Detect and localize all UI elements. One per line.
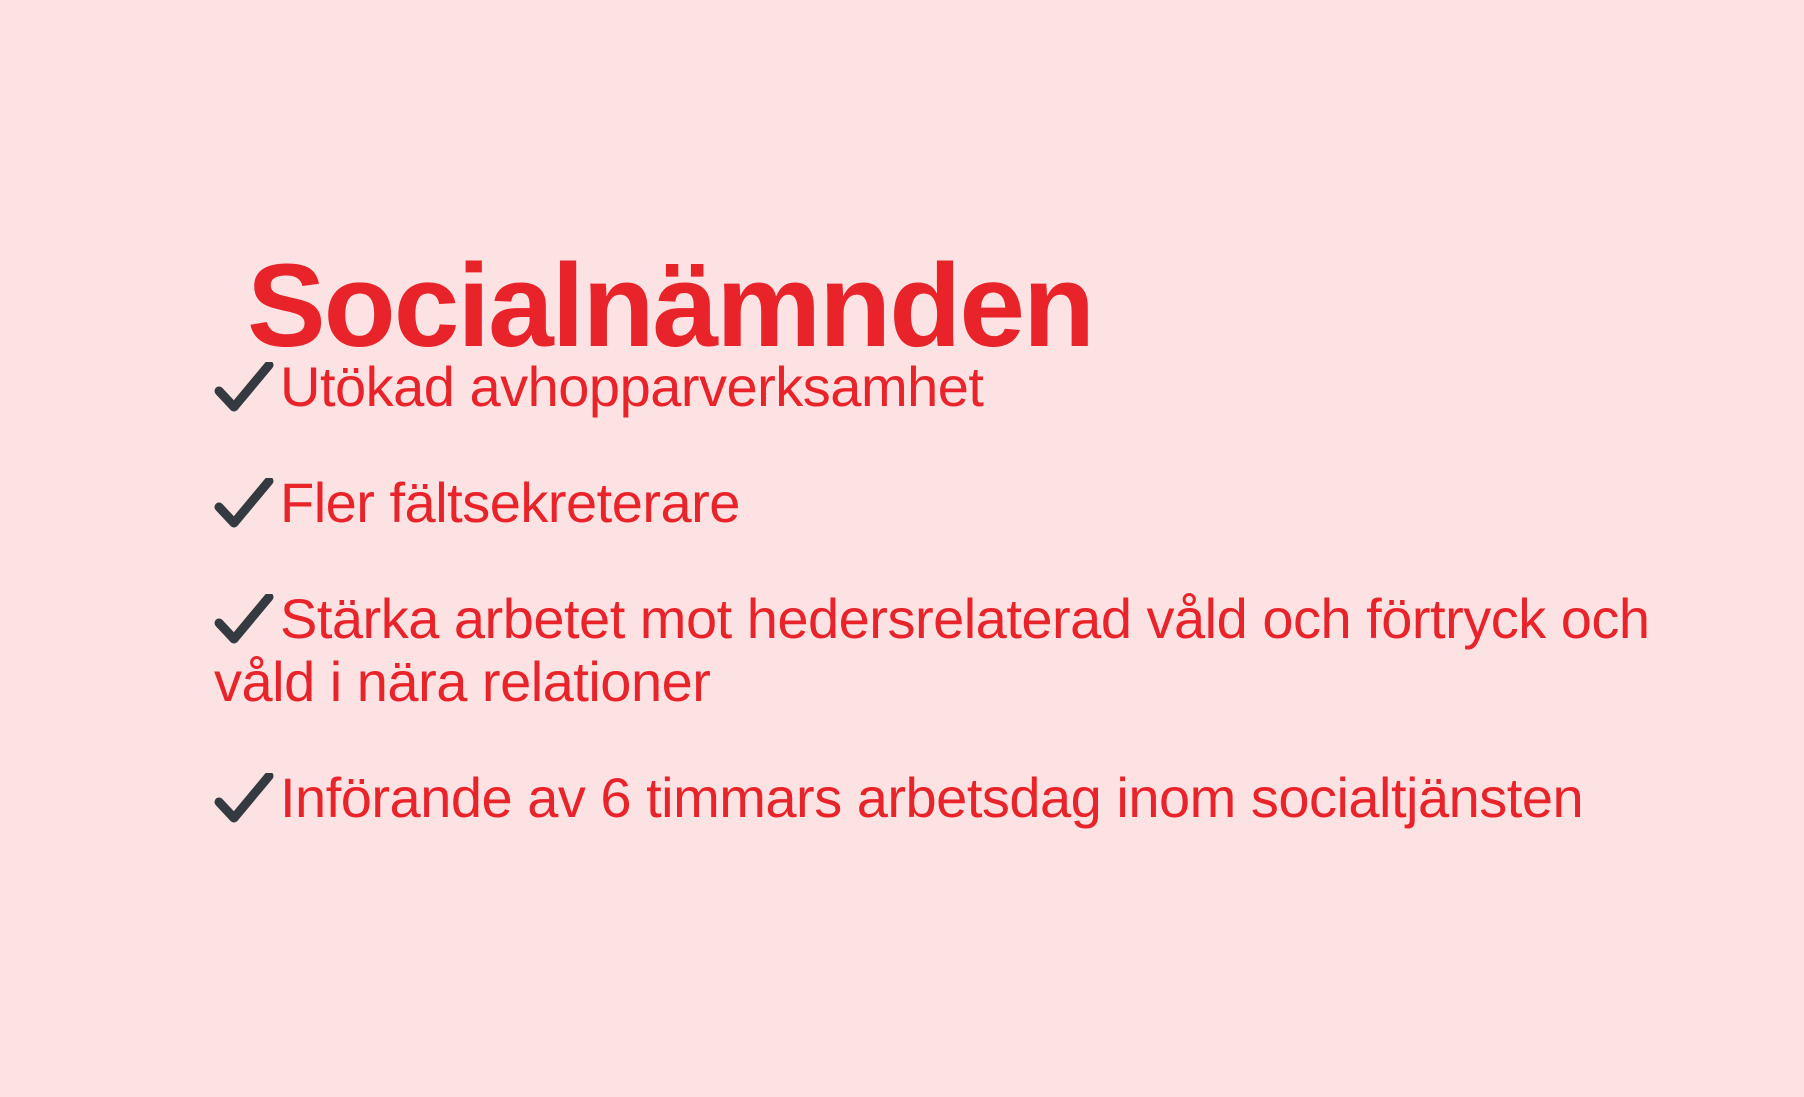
list-item-text-wrapper: Införande av 6 timmars arbetsdag inom so… [214,766,1694,830]
list-item-text-wrapper: Utökad avhopparverksamhet [214,355,1694,419]
list-item-label: Utökad avhopparverksamhet [280,355,983,418]
slide-canvas: Socialnämnden Utökad avhopparverksamhet … [0,0,1804,1097]
list-item: Fler fältsekreterare [214,471,1694,535]
list-item: Införande av 6 timmars arbetsdag inom so… [214,766,1694,830]
check-icon [214,594,274,646]
bullet-list: Utökad avhopparverksamhet Fler fältsekre… [214,355,1694,830]
list-item-text-wrapper: Stärka arbetet mot hedersrelaterad våld … [214,587,1694,715]
check-icon [214,362,274,414]
list-item-label: Stärka arbetet mot hedersrelaterad våld … [214,587,1650,714]
list-item-label: Fler fältsekreterare [280,471,740,534]
page-title: Socialnämnden [0,247,1340,365]
list-item-label: Införande av 6 timmars arbetsdag inom so… [280,766,1583,829]
list-item: Utökad avhopparverksamhet [214,355,1694,419]
check-icon [214,773,274,825]
check-icon [214,478,274,530]
list-item-text-wrapper: Fler fältsekreterare [214,471,1694,535]
list-item: Stärka arbetet mot hedersrelaterad våld … [214,587,1694,715]
